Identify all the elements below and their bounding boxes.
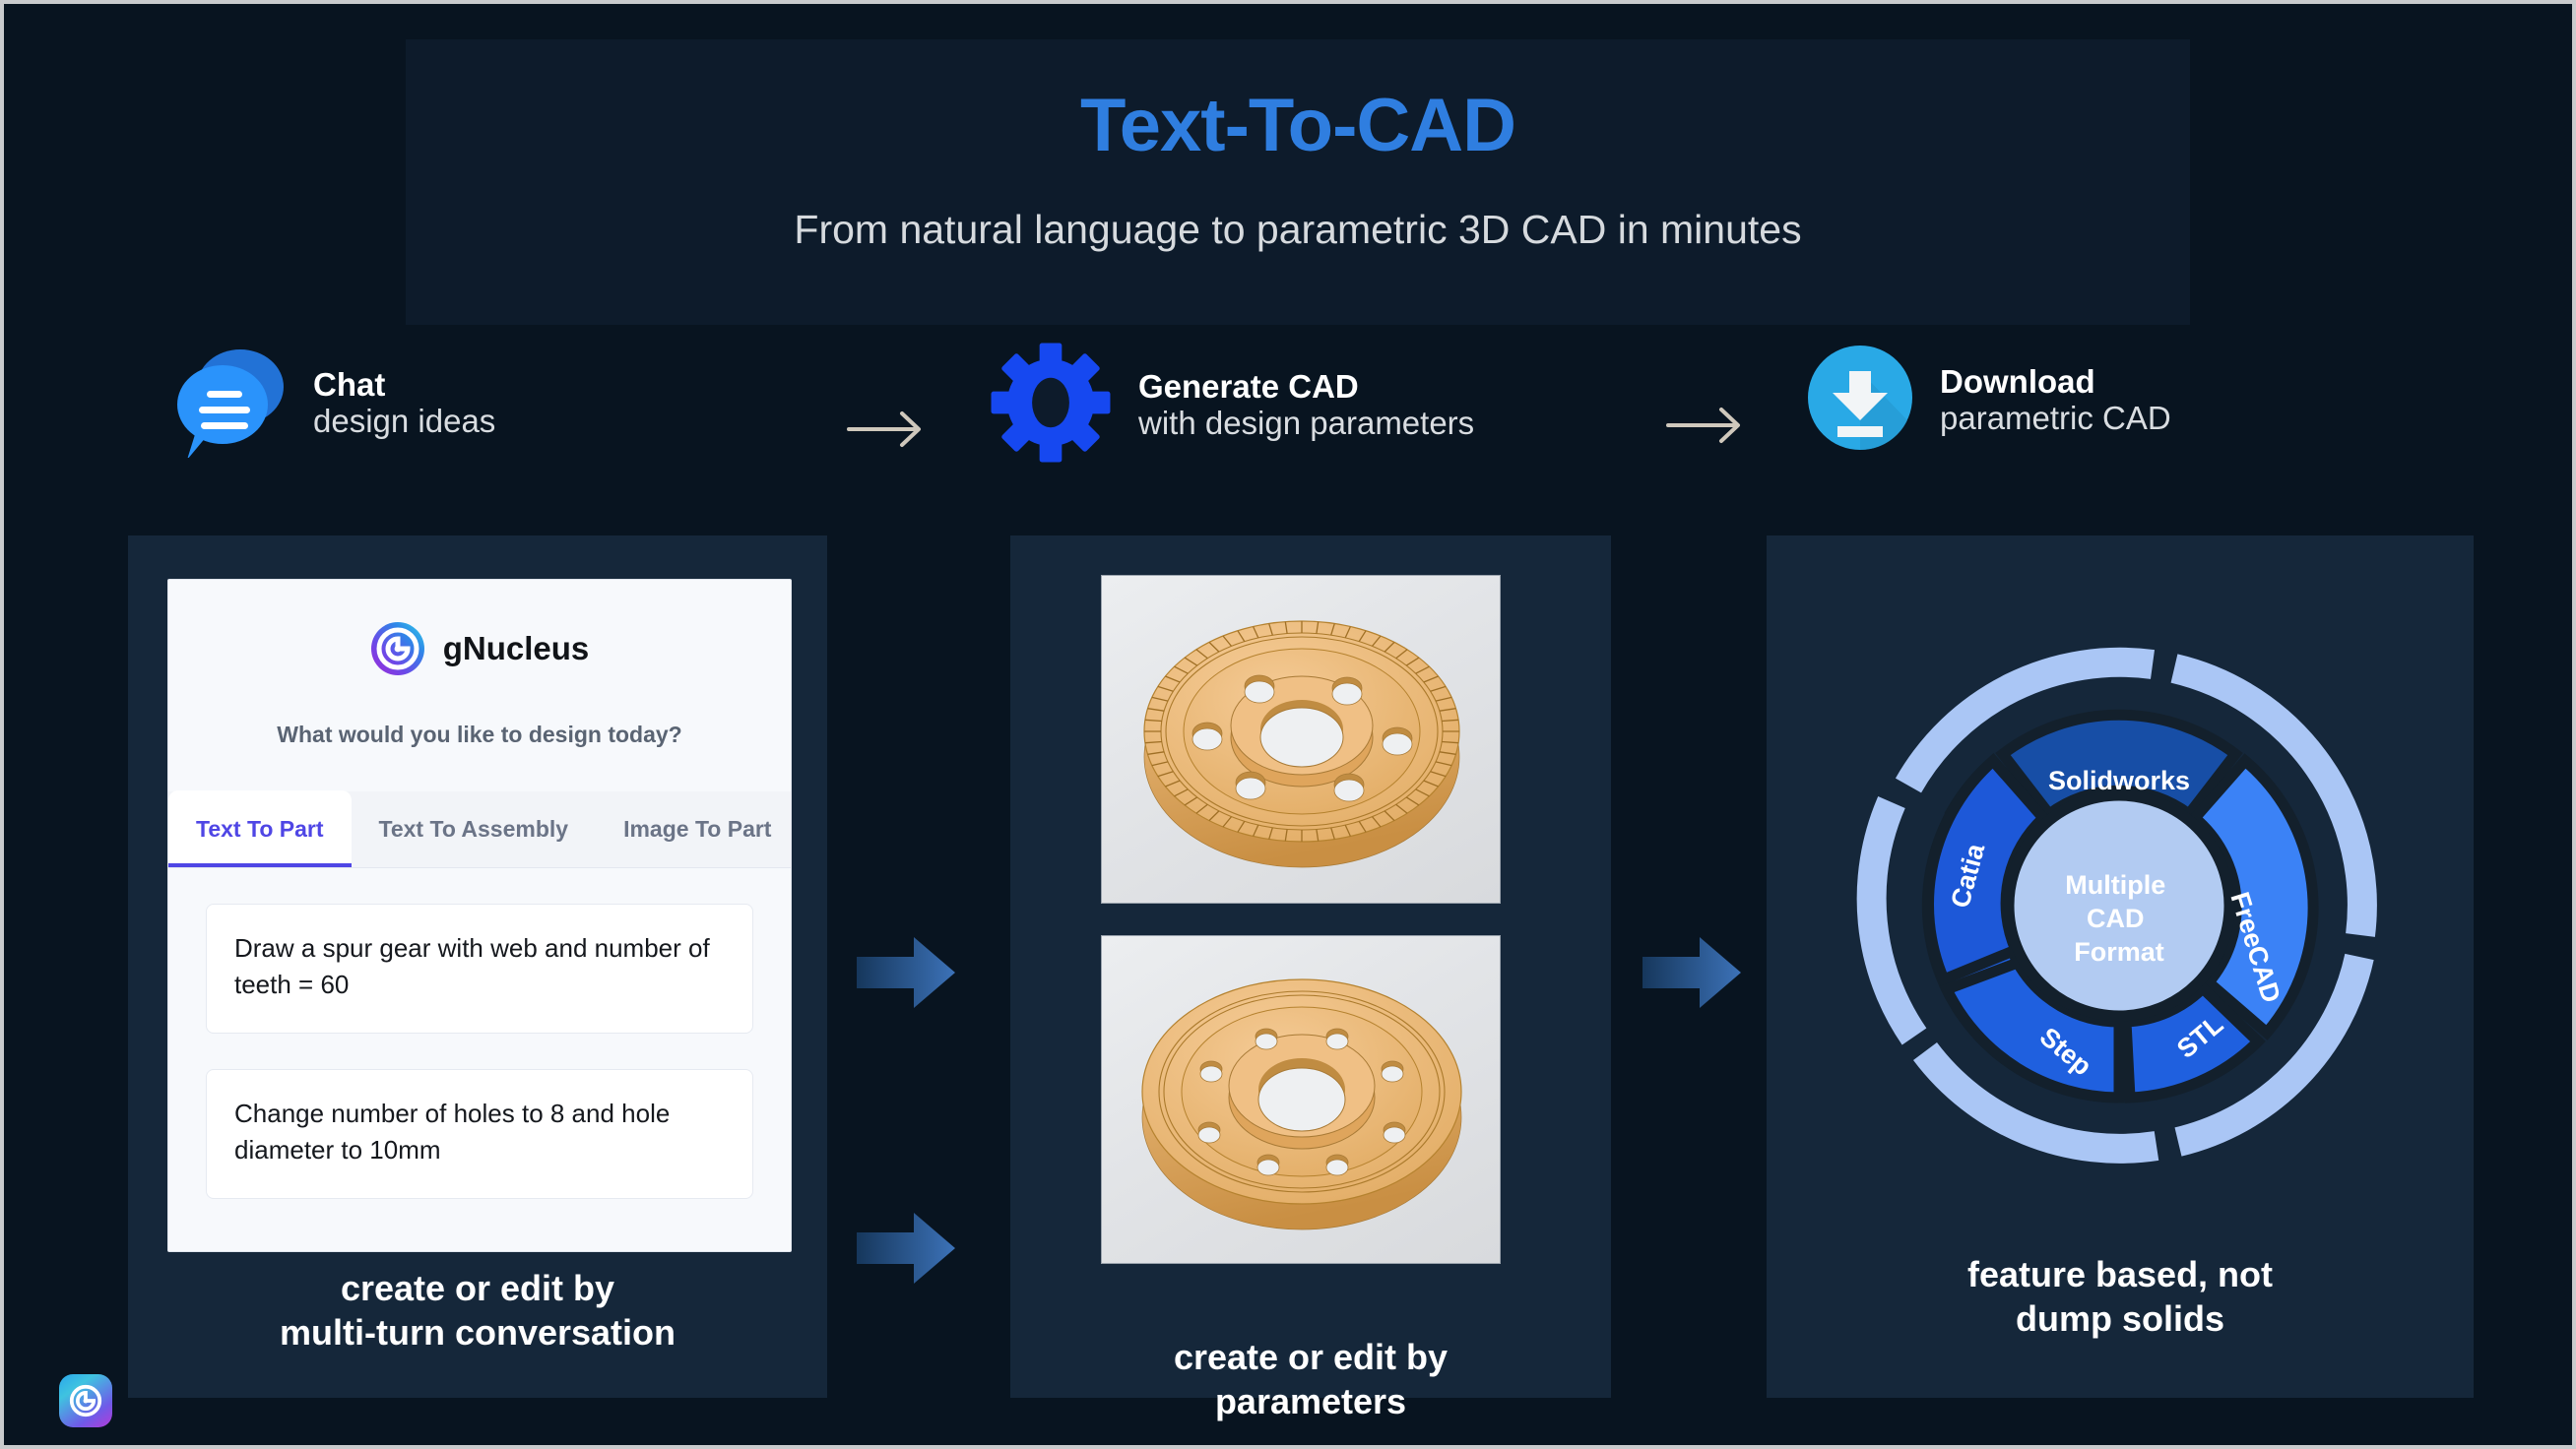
step-generate-text: Generate CAD with design parameters (1138, 369, 1474, 442)
block-arrow-chat-to-gear-2 (853, 1203, 959, 1293)
chat-bubbles-icon (173, 344, 288, 463)
step-chat: Chat design ideas (173, 344, 495, 463)
step-download-subtitle: parametric CAD (1940, 401, 2171, 437)
chat-prompt-text: What would you like to design today? (168, 722, 791, 748)
block-arrow-gear-to-formats (1639, 927, 1745, 1018)
chat-message-2[interactable]: Change number of holes to 8 and hole dia… (206, 1069, 753, 1199)
arrow-right-icon-2 (1666, 406, 1745, 445)
gnucleus-app-badge-icon[interactable] (59, 1374, 112, 1427)
wheel-label-solidworks: Solidworks (2048, 766, 2190, 795)
block-arrow-chat-to-gear-1 (853, 927, 959, 1018)
brand-name: gNucleus (443, 630, 590, 667)
cad-preview-gear-8-holes (1101, 935, 1501, 1264)
step-chat-title: Chat (313, 367, 495, 404)
step-download-text: Download parametric CAD (1940, 364, 2171, 437)
chat-message-1[interactable]: Draw a spur gear with web and number of … (206, 904, 753, 1034)
caption-generate-line1: create or edit by (1010, 1335, 1611, 1379)
step-download: Download parametric CAD (1806, 344, 2171, 457)
tab-text-to-part[interactable]: Text To Part (168, 790, 352, 867)
caption-chat: create or edit by multi-turn conversatio… (128, 1266, 827, 1354)
step-chat-subtitle: design ideas (313, 404, 495, 440)
brand-row: gNucleus (168, 621, 791, 676)
step-generate-title: Generate CAD (1138, 369, 1474, 406)
caption-chat-line2: multi-turn conversation (128, 1310, 827, 1354)
arrow-right-icon-1 (847, 409, 926, 449)
download-circle-icon (1806, 344, 1914, 457)
tab-image-to-part[interactable]: Image To Part (596, 790, 792, 867)
caption-generate-line2: parameters (1010, 1379, 1611, 1423)
step-generate: Generate CAD with design parameters (989, 341, 1474, 470)
caption-download-line1: feature based, not (1767, 1252, 2474, 1296)
caption-chat-line1: create or edit by (128, 1266, 827, 1310)
caption-generate: create or edit by parameters (1010, 1335, 1611, 1423)
caption-download: feature based, not dump solids (1767, 1252, 2474, 1341)
caption-download-line2: dump solids (1767, 1296, 2474, 1341)
header-panel: Text-To-CAD From natural language to par… (406, 39, 2190, 325)
gear-icon (989, 341, 1113, 470)
gnucleus-logo-icon (370, 621, 425, 676)
step-generate-subtitle: with design parameters (1138, 406, 1474, 442)
tab-text-to-assembly[interactable]: Text To Assembly (352, 790, 597, 867)
page-subtitle: From natural language to parametric 3D C… (406, 207, 2190, 253)
tab-bar: Text To Part Text To Assembly Image To P… (168, 791, 791, 868)
step-download-title: Download (1940, 364, 2171, 401)
page-title: Text-To-CAD (406, 83, 2190, 168)
cad-preview-gear-6-holes (1101, 575, 1501, 904)
chat-app-card: gNucleus What would you like to design t… (167, 579, 792, 1252)
slide-canvas: Text-To-CAD From natural language to par… (4, 4, 2572, 1445)
cad-format-wheel: Solidworks FreeCAD STL Step Catia Multip… (1794, 581, 2444, 1230)
step-chat-text: Chat design ideas (313, 367, 495, 440)
